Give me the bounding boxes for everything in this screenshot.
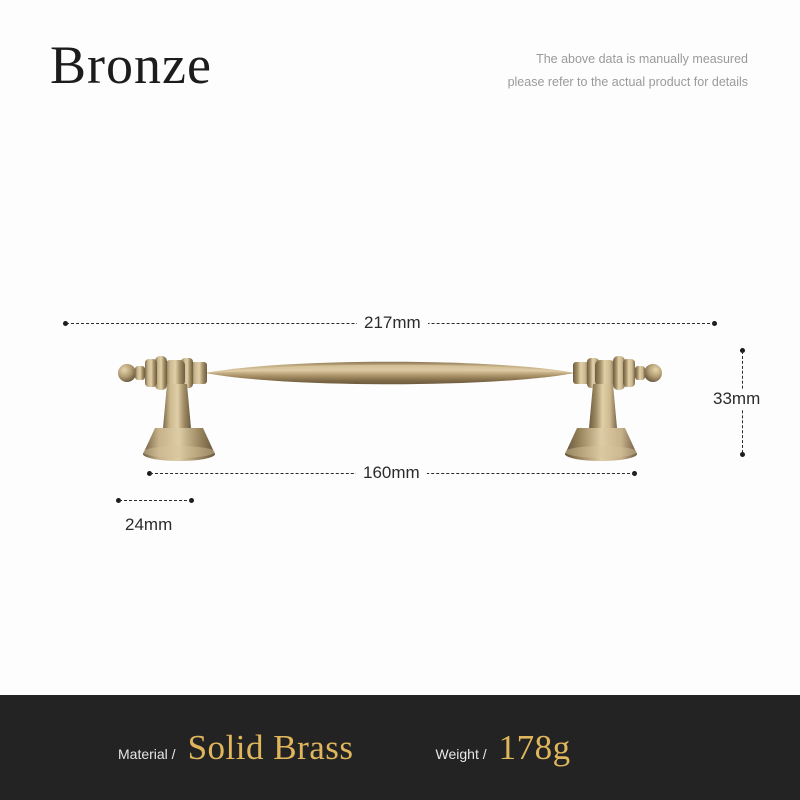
weight-value: 178g [499, 728, 571, 768]
center-to-center-label: 160mm [356, 463, 427, 483]
base-diameter-label: 24mm [118, 515, 179, 535]
projection-height-label: 33mm [706, 389, 767, 409]
material-spec: Material / Solid Brass [118, 728, 354, 768]
overall-length-label: 217mm [357, 313, 428, 333]
base-diameter-line [119, 500, 192, 501]
material-value: Solid Brass [188, 728, 354, 768]
handle-right-post [565, 356, 662, 461]
disclaimer-line-1: The above data is manually measured [508, 48, 748, 71]
handle-left-post [118, 356, 215, 461]
material-label: Material / [118, 746, 176, 762]
page-title: Bronze [50, 38, 212, 92]
weight-label: Weight / [436, 746, 487, 762]
measurement-disclaimer: The above data is manually measured plea… [508, 48, 748, 94]
cabinet-pull-handle-image [55, 340, 725, 470]
product-spec-page: Bronze The above data is manually measur… [0, 0, 800, 800]
disclaimer-line-2: please refer to the actual product for d… [508, 71, 748, 94]
spec-footer: Material / Solid Brass Weight / 178g [0, 695, 800, 800]
weight-spec: Weight / 178g [436, 728, 571, 768]
product-stage: 217mm 160mm 24mm 33mm [0, 140, 800, 690]
